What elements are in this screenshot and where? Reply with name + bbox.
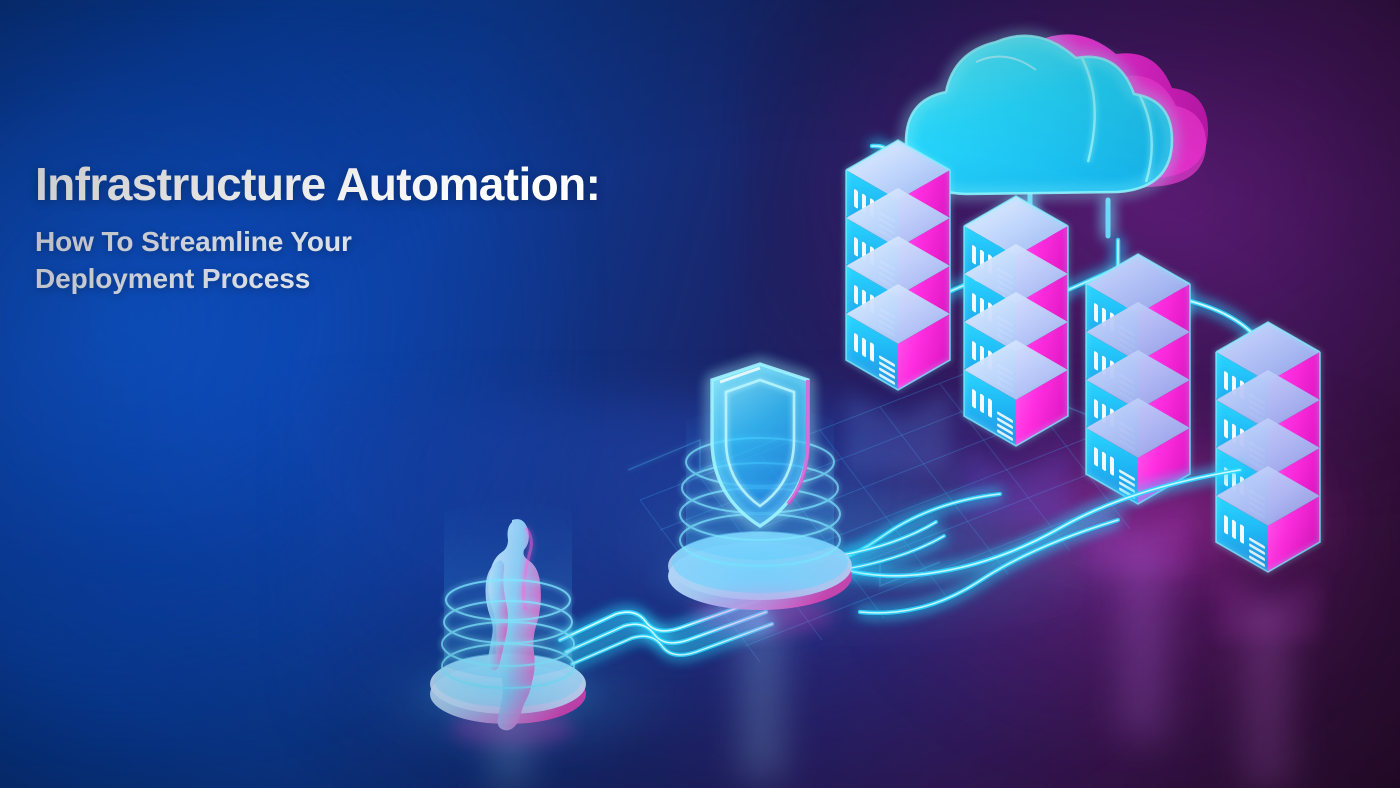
server-rack xyxy=(964,196,1068,446)
server-rack xyxy=(1216,322,1320,572)
page-subtitle: How To Streamline Your Deployment Proces… xyxy=(35,223,455,297)
banner-hero: Infrastructure Automation: How To Stream… xyxy=(0,0,1400,788)
page-title: Infrastructure Automation: xyxy=(35,160,595,209)
cloud-node xyxy=(906,34,1208,236)
operator-hologram xyxy=(404,501,612,746)
server-rack xyxy=(846,140,950,390)
hero-text-block: Infrastructure Automation: How To Stream… xyxy=(35,160,595,297)
server-rack xyxy=(1086,254,1190,504)
infrastructure-illustration xyxy=(0,0,1400,788)
